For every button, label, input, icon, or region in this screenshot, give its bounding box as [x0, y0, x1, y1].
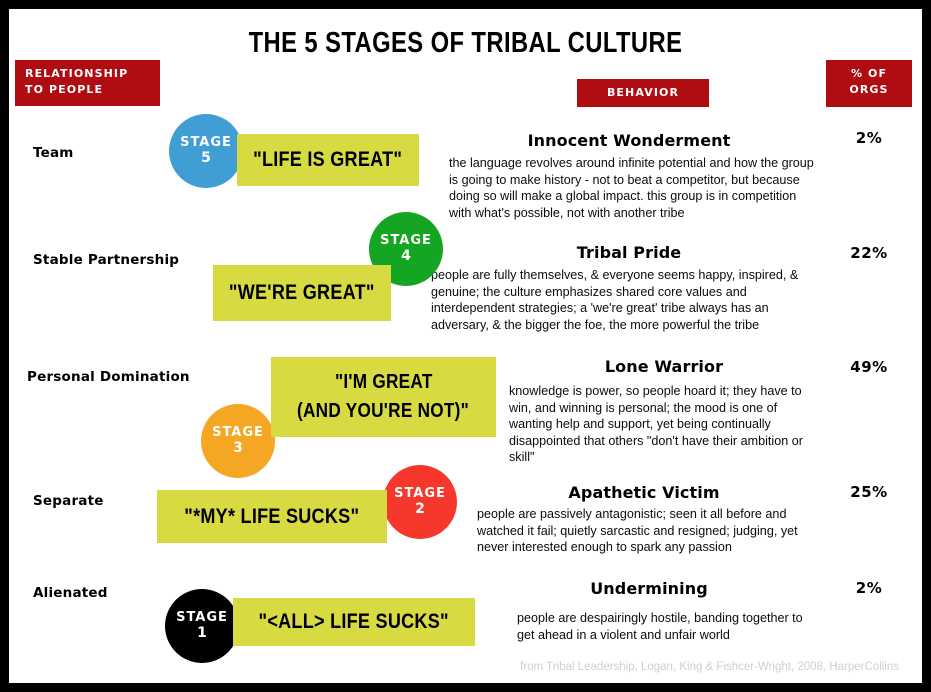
stage-word-1: STAGE	[176, 611, 228, 625]
stage-word-4: STAGE	[380, 234, 432, 248]
quote-line-5-1: "LIFE IS GREAT"	[253, 148, 402, 172]
quote-line-2-1: "*MY* LIFE SUCKS"	[184, 505, 359, 529]
stage-circle-3[interactable]: STAGE 3	[201, 404, 275, 478]
source-attribution: from Tribal Leadership, Logan, King & Fi…	[9, 661, 899, 673]
relationship-label-2: Separate	[33, 493, 104, 509]
quote-box-1: "<ALL> LIFE SUCKS"	[233, 598, 475, 646]
column-header-behavior: BEHAVIOR	[577, 79, 709, 107]
percent-value-1: 2%	[826, 579, 912, 597]
stage-word-2: STAGE	[394, 487, 446, 501]
relationship-header-line-2: TO PEOPLE	[25, 82, 150, 98]
relationship-label-4: Stable Partnership	[33, 252, 179, 268]
relationship-header-line-1: RELATIONSHIP	[25, 66, 150, 82]
behavior-title-5: Innocent Wonderment	[439, 131, 819, 150]
quote-line-4-1: "WE'RE GREAT"	[229, 281, 375, 305]
column-header-relationship: RELATIONSHIP TO PEOPLE	[15, 60, 160, 106]
quote-box-5: "LIFE IS GREAT"	[237, 134, 419, 186]
stage-circle-1[interactable]: STAGE 1	[165, 589, 239, 663]
stage-number-2: 2	[415, 502, 425, 517]
infographic-canvas: THE 5 STAGES OF TRIBAL CULTURE RELATIONS…	[9, 9, 922, 683]
behavior-body-5: the language revolves around infinite po…	[449, 155, 822, 221]
stage-number-4: 4	[401, 249, 411, 264]
behavior-title-3: Lone Warrior	[509, 357, 819, 376]
quote-box-2: "*MY* LIFE SUCKS"	[157, 490, 387, 543]
behavior-body-3: knowledge is power, so people hoard it; …	[509, 383, 819, 466]
stage-circle-2[interactable]: STAGE 2	[383, 465, 457, 539]
stage-number-3: 3	[233, 441, 243, 456]
percent-value-5: 2%	[826, 129, 912, 147]
percent-value-2: 25%	[826, 483, 912, 501]
behavior-title-4: Tribal Pride	[439, 243, 819, 262]
stage-word-5: STAGE	[180, 136, 232, 150]
quote-box-3: "I'M GREAT (AND YOU'RE NOT)"	[271, 357, 496, 437]
relationship-label-1: Alienated	[33, 585, 108, 601]
page-title: THE 5 STAGES OF TRIBAL CULTURE	[91, 27, 840, 60]
relationship-label-5: Team	[33, 145, 74, 161]
stage-word-3: STAGE	[212, 426, 264, 440]
behavior-title-2: Apathetic Victim	[469, 483, 819, 502]
behavior-body-2: people are passively antagonistic; seen …	[477, 506, 821, 556]
column-header-percent-of-orgs: % OF ORGS	[826, 60, 912, 107]
percent-header-line-2: ORGS	[836, 82, 902, 98]
percent-header-line-1: % OF	[836, 66, 902, 82]
percent-value-3: 49%	[826, 358, 912, 376]
percent-value-4: 22%	[826, 244, 912, 262]
stage-circle-5[interactable]: STAGE 5	[169, 114, 243, 188]
quote-line-3-1: "I'M GREAT	[335, 371, 433, 394]
behavior-body-1: people are despairingly hostile, banding…	[517, 610, 817, 643]
relationship-label-3: Personal Domination	[27, 369, 190, 385]
behavior-body-4: people are fully themselves, & everyone …	[431, 267, 821, 333]
quote-line-1-1: "<ALL> LIFE SUCKS"	[259, 610, 449, 634]
stage-number-1: 1	[197, 626, 207, 641]
quote-line-3-2: (AND YOU'RE NOT)"	[297, 400, 469, 423]
behavior-title-1: Undermining	[479, 579, 819, 598]
stage-number-5: 5	[201, 151, 211, 166]
quote-box-4: "WE'RE GREAT"	[213, 265, 391, 321]
